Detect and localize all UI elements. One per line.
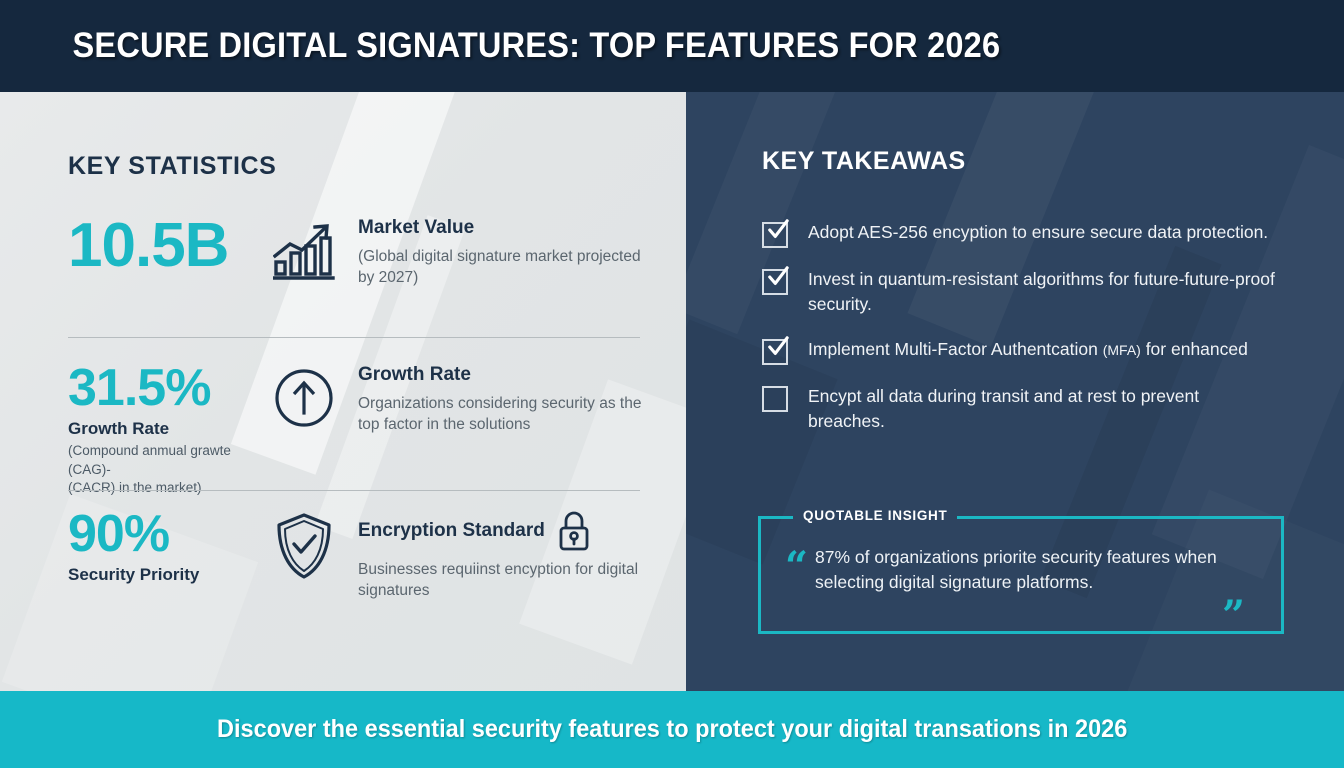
- stat-value: 90%: [68, 510, 268, 559]
- stat-heading-row: Encryption Standard: [358, 510, 658, 552]
- bar-chart-growth-icon: [268, 217, 340, 285]
- stat-value-block: 90% Security Priority: [68, 510, 268, 585]
- key-takeaways-title: KEY TAKEAWAS: [762, 147, 966, 176]
- arrow-up-circle-icon: [268, 364, 340, 432]
- stat-text-block: Market Value (Global digital signature m…: [358, 217, 658, 289]
- quotable-insight-box: QUOTABLE INSIGHT “ 87% of organizations …: [758, 516, 1284, 634]
- stat-value-block: 10.5B: [68, 217, 268, 276]
- checkbox-checked-icon[interactable]: [762, 269, 788, 295]
- quote-text: 87% of organizations priorite security f…: [815, 545, 1265, 595]
- stat-text-block: Encryption Standard: [358, 510, 658, 602]
- list-item[interactable]: Implement Multi-Factor Authentcation (MF…: [762, 337, 1344, 365]
- takeaway-text: Encypt all data during transit and at re…: [808, 384, 1278, 435]
- key-statistics-panel: KEY STATISTICS 10.5B: [0, 92, 686, 691]
- takeaway-text-main: Implement Multi-Factor Authentcation: [808, 339, 1103, 359]
- list-item[interactable]: Adopt AES-256 encyption to ensure secure…: [762, 220, 1344, 248]
- stat-body: (Global digital signature market project…: [358, 247, 658, 289]
- check-mark-icon: [767, 219, 789, 241]
- stat-sublabel: (Compound anmual grawte (CAG)- (CACR) in…: [68, 442, 268, 497]
- checkbox-unchecked-icon[interactable]: [762, 386, 788, 412]
- checkbox-checked-icon[interactable]: [762, 339, 788, 365]
- quote-open-icon: “: [785, 543, 808, 590]
- stat-row-growth-rate: 31.5% Growth Rate (Compound anmual grawt…: [68, 364, 658, 497]
- footer-text: Discover the essential security features…: [217, 715, 1127, 744]
- stat-body: Organizations considering security as th…: [358, 394, 658, 436]
- stat-text-block: Growth Rate Organizations considering se…: [358, 364, 658, 436]
- takeaway-text-tail: for enhanced: [1141, 339, 1248, 359]
- divider: [68, 337, 640, 338]
- stat-value-block: 31.5% Growth Rate (Compound anmual grawt…: [68, 364, 268, 497]
- stat-row-encryption-standard: 90% Security Priority Encryption Stand: [68, 510, 658, 602]
- stat-value: 10.5B: [68, 217, 268, 276]
- list-item[interactable]: Invest in quantum-resistant algorithms f…: [762, 267, 1344, 318]
- quote-close-icon: ”: [1222, 592, 1245, 639]
- infographic-canvas: SECURE DIGITAL SIGNATURES: TOP FEATURES …: [0, 0, 1344, 768]
- stat-heading: Encryption Standard: [358, 520, 545, 542]
- stat-label: Growth Rate: [68, 419, 268, 439]
- list-item[interactable]: Encypt all data during transit and at re…: [762, 384, 1344, 435]
- stat-body: Businesses requiinst encyption for digit…: [358, 560, 658, 602]
- takeaways-checklist: Adopt AES-256 encyption to ensure secure…: [762, 220, 1344, 454]
- shield-check-icon: [268, 510, 340, 582]
- padlock-icon: [557, 510, 591, 552]
- check-mark-icon: [767, 336, 789, 358]
- stat-label: Security Priority: [68, 565, 268, 585]
- check-mark-icon: [767, 266, 789, 288]
- takeaway-text: Adopt AES-256 encyption to ensure secure…: [808, 220, 1278, 245]
- stat-heading: Growth Rate: [358, 364, 658, 386]
- checkbox-checked-icon[interactable]: [762, 222, 788, 248]
- takeaway-text-clipped: Implement Multi-Factor Authentcation (MF…: [808, 337, 1248, 362]
- page-title: SECURE DIGITAL SIGNATURES: TOP FEATURES …: [0, 26, 1000, 66]
- stat-heading: Market Value: [358, 217, 658, 239]
- footer-banner: Discover the essential security features…: [0, 691, 1344, 768]
- key-statistics-title: KEY STATISTICS: [68, 152, 276, 181]
- stat-row-market-value: 10.5B: [68, 217, 658, 289]
- takeaway-text: Invest in quantum-resistant algorithms f…: [808, 267, 1278, 318]
- divider: [68, 490, 640, 491]
- header-banner: SECURE DIGITAL SIGNATURES: TOP FEATURES …: [0, 0, 1344, 92]
- quotable-insight-label: QUOTABLE INSIGHT: [793, 508, 957, 523]
- stat-value: 31.5%: [68, 364, 268, 413]
- takeaway-text-mfa: (MFA): [1103, 342, 1141, 358]
